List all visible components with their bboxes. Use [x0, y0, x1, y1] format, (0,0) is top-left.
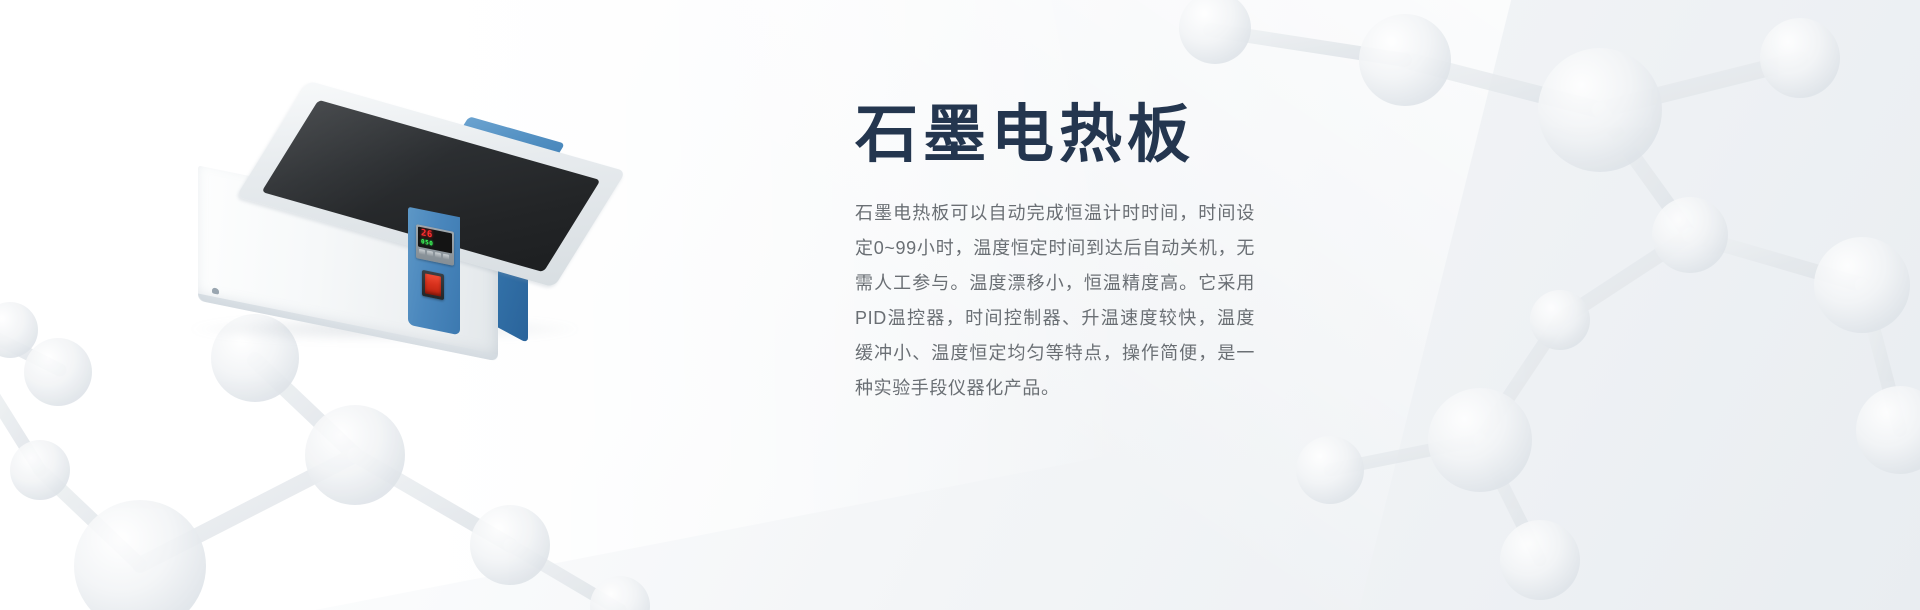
power-switch-rocker[interactable]: [425, 273, 441, 296]
product-description: 石墨电热板可以自动完成恒温计时时间，时间设定0~99小时，温度恒定时间到达后自动…: [855, 196, 1255, 406]
pid-button-up[interactable]: [443, 254, 449, 260]
power-switch[interactable]: [422, 270, 444, 300]
product-banner: 26 050 石墨电热板 石墨电热板可以自动完成恒温计时时间，时间设定0~99小…: [0, 0, 1920, 610]
banner-text-content: 石墨电热板 石墨电热板可以自动完成恒温计时时间，时间设定0~99小时，温度恒定时…: [855, 96, 1375, 406]
pid-setpoint-value: 050: [421, 238, 433, 248]
pid-button-shift[interactable]: [427, 250, 433, 256]
pid-button-down[interactable]: [435, 252, 441, 258]
product-foot: [212, 287, 219, 294]
product-image-graphite-hot-plate: 26 050: [150, 120, 610, 370]
pid-button-set[interactable]: [419, 249, 425, 255]
page-title: 石墨电热板: [855, 96, 1375, 174]
